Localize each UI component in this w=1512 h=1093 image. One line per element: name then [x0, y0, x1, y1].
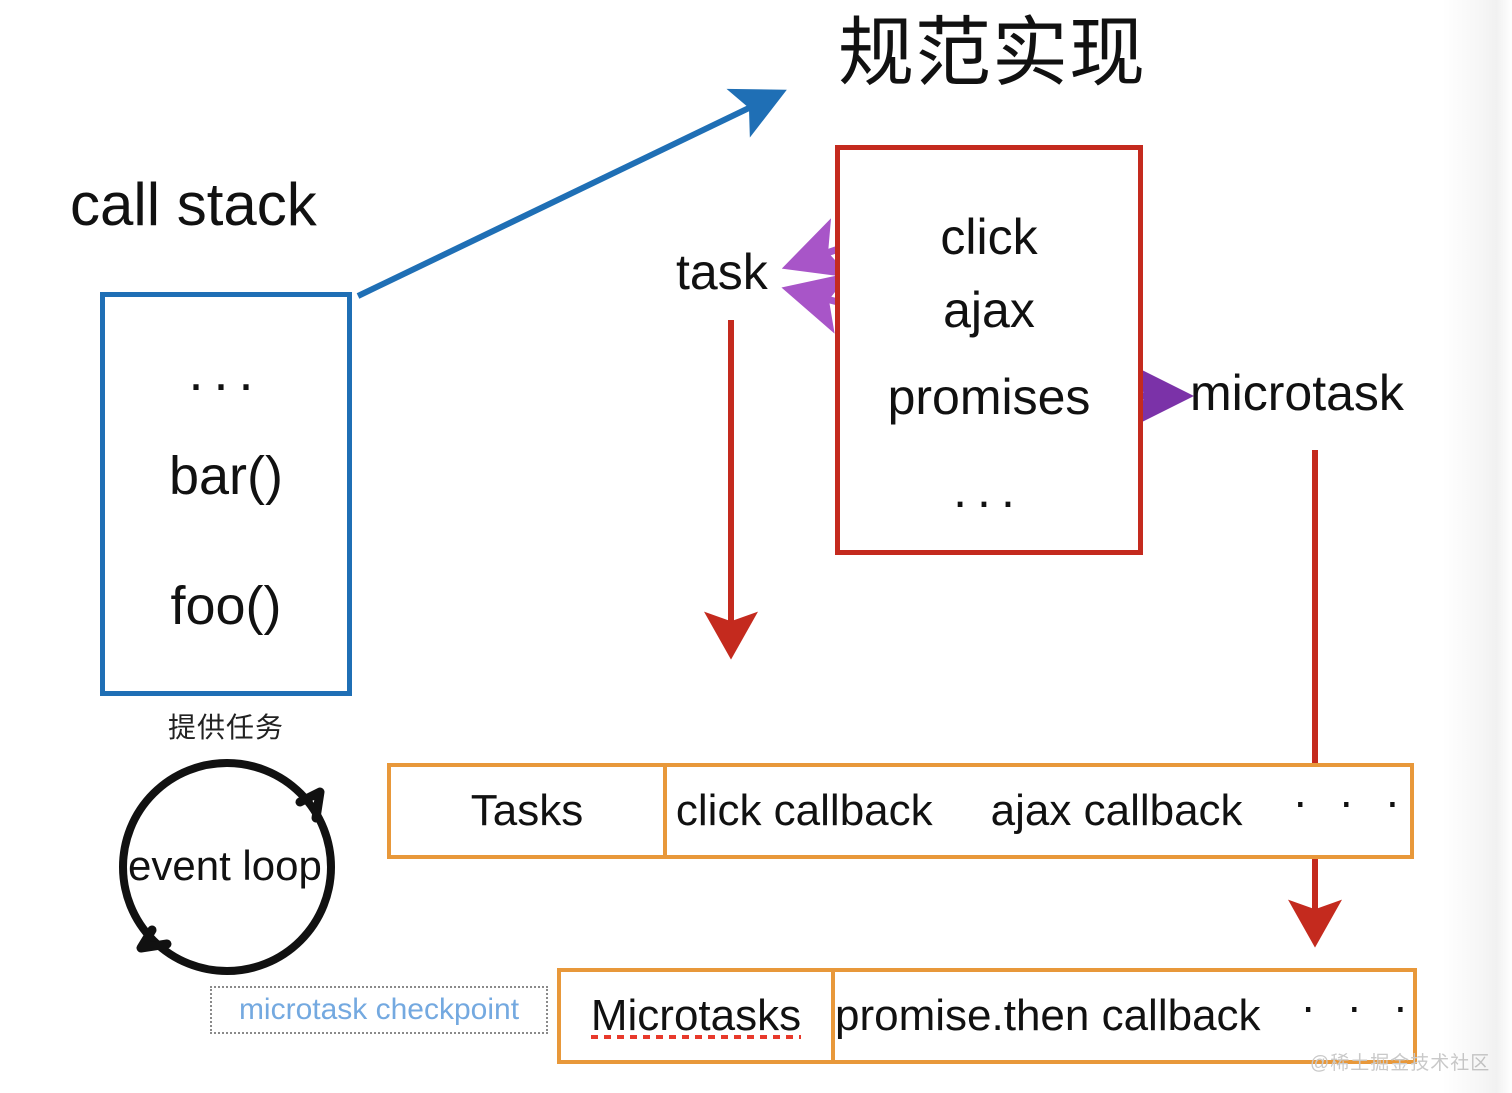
call-stack-box: ... bar() foo()	[100, 292, 352, 696]
call-stack-frame-ellipsis: ...	[105, 345, 347, 399]
diagram-canvas: 规范实现 call stack ... bar() foo() 提供任务 eve…	[0, 0, 1512, 1093]
tasks-queue-item-0: click callback	[668, 786, 941, 836]
call-stack-caption: 提供任务	[168, 714, 284, 742]
microtask-label: microtask	[1190, 368, 1404, 418]
page-title: 规范实现	[838, 16, 1146, 92]
spec-source-ajax: ajax	[840, 285, 1138, 335]
spec-sources-box: click ajax promises ...	[835, 145, 1143, 555]
call-stack-frame-foo: foo()	[105, 579, 347, 633]
microtasks-queue-name: Microtasks	[561, 972, 831, 1060]
tasks-queue-item-1: ajax callback	[983, 786, 1251, 836]
microtasks-queue-name-text: Microtasks	[591, 991, 801, 1041]
tasks-queue-items: click callback ajax callback · · ·	[667, 767, 1410, 855]
microtasks-queue-items: promise.then callback · · ·	[835, 972, 1417, 1060]
microtask-checkpoint-chip: microtask checkpoint	[210, 986, 548, 1034]
call-stack-heading: call stack	[70, 175, 317, 235]
microtasks-queue-row: Microtasks promise.then callback · · ·	[557, 968, 1417, 1064]
spec-source-click: click	[840, 212, 1138, 262]
call-stack-frame-bar: bar()	[105, 449, 347, 503]
task-label: task	[676, 247, 768, 297]
spec-source-ellipsis: ...	[840, 465, 1138, 515]
microtasks-queue-ellipsis: · · ·	[1301, 983, 1418, 1029]
right-edge-gradient	[1442, 0, 1512, 1093]
tasks-queue-row: Tasks click callback ajax callback · · ·	[387, 763, 1414, 859]
event-loop-label: event loop	[128, 845, 322, 887]
tasks-queue-name: Tasks	[391, 767, 663, 855]
tasks-queue-ellipsis: · · ·	[1293, 778, 1410, 824]
watermark: @稀土掘金技术社区	[1310, 1048, 1490, 1075]
spec-source-promises: promises	[840, 372, 1138, 422]
microtasks-queue-item-0: promise.then callback	[835, 991, 1261, 1041]
